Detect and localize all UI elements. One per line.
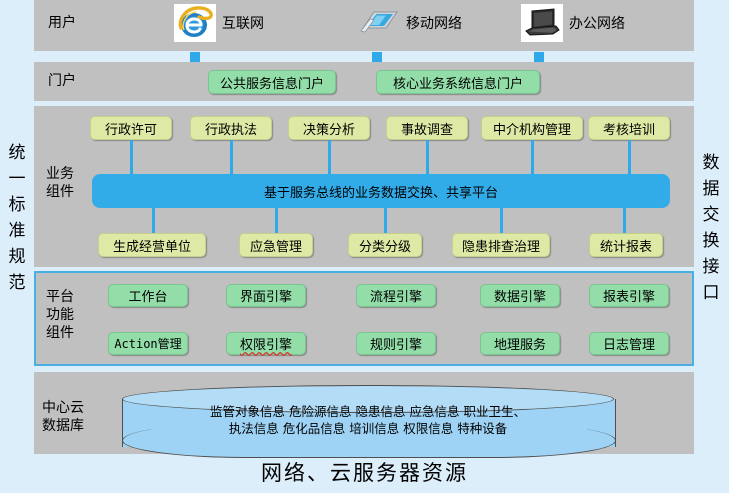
portal-public-service[interactable]: 公共服务信息门户 xyxy=(208,70,336,94)
platform-node-rizhi-guanli[interactable]: 日志管理 xyxy=(589,332,669,355)
business-band-label: 业务 组件 xyxy=(46,165,74,201)
portal-public-service-label: 公共服务信息门户 xyxy=(220,73,324,92)
user-channel-mobile-label: 移动网络 xyxy=(406,13,462,33)
tablet-icon xyxy=(360,6,400,40)
business-node-label: 考核培训 xyxy=(603,119,655,138)
users-band-label: 用户 xyxy=(48,14,76,32)
side-left-char-3: 标 xyxy=(0,192,34,218)
connector-top-2 xyxy=(230,140,233,175)
business-node-label: 行政许可 xyxy=(105,119,157,138)
platform-node-jiemian-yinqing[interactable]: 界面引擎 xyxy=(226,284,306,307)
business-node-label: 生成经营单位 xyxy=(113,236,191,255)
side-right-char-2: 据 xyxy=(694,176,728,202)
side-left-char-2: 一 xyxy=(0,166,34,192)
connector-bottom-4 xyxy=(500,208,503,234)
connector-top-4 xyxy=(426,140,429,175)
platform-node-label: 界面引擎 xyxy=(240,286,292,305)
database-band-label-line-2: 数据库 xyxy=(42,417,84,435)
service-bus-bar[interactable]: 基于服务总线的业务数据交换、共享平台 xyxy=(92,174,670,208)
portal-band xyxy=(34,62,694,101)
platform-band-label-line-3: 组件 xyxy=(46,324,74,342)
platform-node-gongzuotai[interactable]: 工作台 xyxy=(108,284,188,307)
connector-top-5 xyxy=(531,140,534,175)
platform-node-label: 工作台 xyxy=(128,286,167,305)
business-node-label: 分类分级 xyxy=(359,236,411,255)
platform-node-label: 权限引擎 xyxy=(240,334,292,353)
bottom-caption: 网络、云服务器资源 xyxy=(0,457,729,487)
side-left-char-6: 范 xyxy=(0,270,34,296)
user-channel-internet: 互联网 xyxy=(174,4,264,42)
platform-node-label: 日志管理 xyxy=(603,334,655,353)
side-left-char-1: 统 xyxy=(0,140,34,166)
platform-node-label: 规则引擎 xyxy=(370,334,422,353)
portal-band-label: 门户 xyxy=(48,72,76,90)
database-content-line-1: 监管对象信息 危险源信息 隐患信息 应急信息 职业卫生、 xyxy=(122,403,614,420)
platform-band-label-line-2: 功能 xyxy=(46,306,74,324)
platform-node-action-guanli[interactable]: Action管理 xyxy=(108,332,188,355)
business-node-label: 事故调查 xyxy=(401,119,453,138)
business-node-juece-fenxi[interactable]: 决策分析 xyxy=(288,116,370,140)
business-band-label-line-1: 业务 xyxy=(46,165,74,183)
business-node-yinhuan-paicha-zhili[interactable]: 隐患排查治理 xyxy=(452,233,550,257)
internet-explorer-glyph xyxy=(177,6,213,40)
platform-node-label: 地理服务 xyxy=(494,334,546,353)
user-channel-mobile: 移动网络 xyxy=(360,6,462,40)
side-left-char-5: 规 xyxy=(0,244,34,270)
user-channel-internet-label: 互联网 xyxy=(222,13,264,33)
connector-top-3 xyxy=(328,140,331,175)
laptop-glyph xyxy=(523,7,561,39)
business-node-label: 隐患排查治理 xyxy=(462,236,540,255)
connector-top-1 xyxy=(130,140,133,175)
platform-node-label: Action管理 xyxy=(114,335,181,352)
side-right-char-1: 数 xyxy=(694,150,728,176)
laptop-icon xyxy=(521,4,563,42)
platform-node-label: 数据引擎 xyxy=(494,286,546,305)
business-node-label: 应急管理 xyxy=(250,236,302,255)
platform-node-baobiao-yinqing[interactable]: 报表引擎 xyxy=(589,284,669,307)
platform-node-shuju-yinqing[interactable]: 数据引擎 xyxy=(480,284,560,307)
business-node-shengcheng-jingying-danwei[interactable]: 生成经营单位 xyxy=(98,233,206,257)
side-label-left: 统 一 标 准 规 范 xyxy=(0,140,34,296)
business-band-label-line-2: 组件 xyxy=(46,183,74,201)
business-node-tongji-baobiao[interactable]: 统计报表 xyxy=(589,233,663,257)
connector-bottom-5 xyxy=(623,208,626,234)
platform-node-liucheng-yinqing[interactable]: 流程引擎 xyxy=(356,284,436,307)
connector-bottom-1 xyxy=(152,208,155,234)
business-node-fenlei-fenji[interactable]: 分类分级 xyxy=(348,233,422,257)
platform-node-label: 流程引擎 xyxy=(370,286,422,305)
user-channel-office-label: 办公网络 xyxy=(569,13,625,33)
business-node-label: 统计报表 xyxy=(600,236,652,255)
side-right-char-5: 接 xyxy=(694,254,728,280)
user-channel-office: 办公网络 xyxy=(521,4,625,42)
internet-explorer-icon xyxy=(174,4,216,42)
connector-bottom-2 xyxy=(275,208,278,234)
database-band-label-line-1: 中心云 xyxy=(42,399,84,417)
business-node-xingzheng-zhifa[interactable]: 行政执法 xyxy=(190,116,272,140)
side-right-char-6: 口 xyxy=(694,280,728,306)
platform-node-dili-fuwu[interactable]: 地理服务 xyxy=(480,332,560,355)
business-node-yingji-guanli[interactable]: 应急管理 xyxy=(239,233,313,257)
business-node-zhongjie-jigou-guanli[interactable]: 中介机构管理 xyxy=(481,116,583,140)
side-label-right: 数 据 交 换 接 口 xyxy=(694,150,728,306)
business-node-label: 中介机构管理 xyxy=(493,119,571,138)
platform-band-label: 平台 功能 组件 xyxy=(46,288,74,342)
business-node-kaohe-peixun[interactable]: 考核培训 xyxy=(588,116,670,140)
architecture-diagram: 统 一 标 准 规 范 数 据 交 换 接 口 用户 互联网 xyxy=(0,0,729,493)
business-node-label: 决策分析 xyxy=(303,119,355,138)
side-right-char-4: 换 xyxy=(694,228,728,254)
business-node-label: 行政执法 xyxy=(205,119,257,138)
platform-node-quanxian-yinqing[interactable]: 权限引擎 xyxy=(226,332,306,355)
business-node-xingzheng-xuke[interactable]: 行政许可 xyxy=(90,116,172,140)
platform-node-guize-yinqing[interactable]: 规则引擎 xyxy=(356,332,436,355)
business-node-shigu-diaocha[interactable]: 事故调查 xyxy=(386,116,468,140)
side-left-char-4: 准 xyxy=(0,218,34,244)
tablet-glyph xyxy=(360,6,400,40)
connector-bottom-3 xyxy=(384,208,387,234)
platform-band-label-line-1: 平台 xyxy=(46,288,74,306)
portal-core-business[interactable]: 核心业务系统信息门户 xyxy=(376,70,540,94)
connector-top-6 xyxy=(628,140,631,175)
database-band-label: 中心云 数据库 xyxy=(42,399,84,435)
platform-node-label: 报表引擎 xyxy=(603,286,655,305)
service-bus-label: 基于服务总线的业务数据交换、共享平台 xyxy=(264,182,498,201)
database-content-line-2: 执法信息 危化品信息 培训信息 权限信息 特种设备 xyxy=(122,420,614,437)
database-cylinder: 监管对象信息 危险源信息 隐患信息 应急信息 职业卫生、 执法信息 危化品信息 … xyxy=(122,385,614,447)
portal-core-business-label: 核心业务系统信息门户 xyxy=(393,73,523,92)
side-right-char-3: 交 xyxy=(694,202,728,228)
database-content-text: 监管对象信息 危险源信息 隐患信息 应急信息 职业卫生、 执法信息 危化品信息 … xyxy=(122,403,614,437)
